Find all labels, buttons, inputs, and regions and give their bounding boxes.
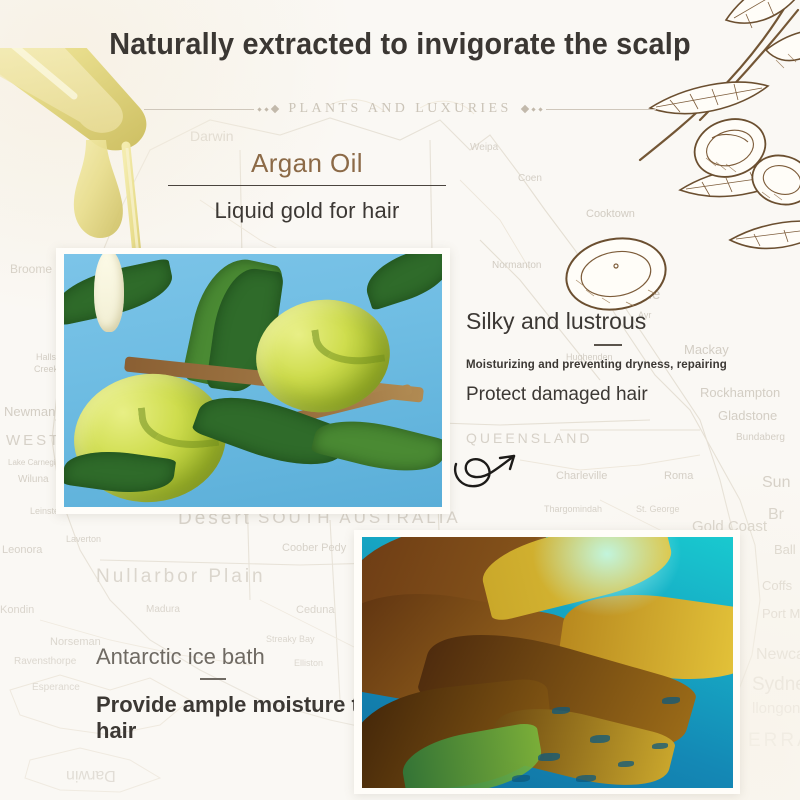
fish-shape: [662, 697, 680, 704]
divider-line-left: [144, 109, 254, 110]
divider-right-ornament: [522, 106, 656, 112]
antarctic-title: Antarctic ice bath: [96, 644, 396, 670]
promo-banner: DarwinWeipaCoenCooktownNormantonBroomeTo…: [0, 0, 800, 800]
antarctic-text-block: Antarctic ice bath Provide ample moistur…: [96, 644, 396, 744]
argan-oil-title: Argan Oil: [168, 148, 446, 179]
antarctic-subtitle: Provide ample moisture to hair: [96, 692, 396, 744]
fish-shape: [512, 775, 530, 782]
divider-dot-icon: [258, 107, 262, 111]
divider-line-right: [546, 109, 656, 110]
fish-shape: [576, 775, 596, 782]
argan-nut-sketch-icon: [556, 228, 676, 320]
fish-shape: [538, 753, 560, 761]
kelp-photo-scene: [362, 537, 733, 788]
benefit-title: Silky and lustrous: [466, 308, 776, 335]
eyebrow-text: PLANTS AND LUXURIES: [288, 101, 511, 117]
antarctic-dash: [200, 678, 226, 680]
benefit-text-block: Silky and lustrous Moisturizing and prev…: [466, 308, 776, 406]
benefit-caption: Moisturizing and preventing dryness, rep…: [466, 359, 776, 371]
decorative-divider: PLANTS AND LUXURIES: [0, 96, 800, 122]
sunlight-glow: [532, 537, 682, 617]
argan-oil-rule: [168, 185, 446, 186]
fish-shape: [552, 707, 570, 714]
argan-oil-heading-block: Argan Oil Liquid gold for hair: [168, 148, 446, 224]
benefit-dash: [594, 344, 622, 346]
oil-droplet-shape: [94, 254, 124, 332]
argan-oil-subtitle: Liquid gold for hair: [168, 198, 446, 224]
argan-fruit-photo: [64, 254, 442, 507]
page-title: Naturally extracted to invigorate the sc…: [28, 26, 772, 62]
fish-shape: [590, 735, 610, 743]
divider-diamond-icon: [520, 105, 528, 113]
leaf-shape: [359, 254, 442, 311]
hand-drawn-curly-arrow-icon: [450, 442, 530, 498]
divider-dot-icon: [538, 107, 542, 111]
fish-shape: [618, 761, 634, 767]
kelp-underwater-photo: [362, 537, 733, 788]
argan-photo-scene: [64, 254, 442, 507]
divider-dot-icon: [531, 107, 535, 111]
divider-dot-icon: [265, 107, 269, 111]
benefit-subtitle: Protect damaged hair: [466, 384, 776, 406]
divider-left-ornament: [144, 106, 278, 112]
divider-diamond-icon: [271, 105, 279, 113]
fish-shape: [652, 743, 668, 749]
leaf-shape: [311, 409, 442, 483]
fruit-crease: [311, 321, 385, 371]
